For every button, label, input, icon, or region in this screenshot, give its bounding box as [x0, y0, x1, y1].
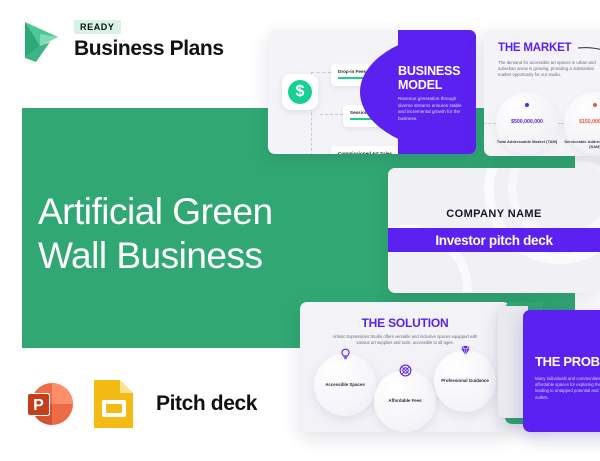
market-body: The demand for accessible art spaces in …: [498, 60, 600, 79]
solution-pillar[interactable]: Accessible Spaces: [314, 354, 376, 416]
hero-title: Artificial Green Wall Business: [38, 190, 348, 278]
problem-title: THE PROBLEM: [535, 354, 600, 369]
diamond-icon: [458, 343, 473, 358]
brand-header: READY Business Plans: [18, 16, 224, 64]
business-model-body: Revenue generation through diverse strea…: [398, 96, 470, 122]
market-stat-value: $150,000,000: [564, 119, 600, 125]
market-dash-left: [484, 123, 496, 124]
business-model-item-label: Commissioned Art Sales: [338, 151, 390, 154]
business-model-title: BUSINESS MODEL: [398, 64, 472, 92]
slide-card-market[interactable]: THE MARKET The demand for accessible art…: [484, 30, 600, 156]
stat-dot-icon: [525, 103, 529, 107]
company-name-text: COMPANY NAME: [388, 208, 600, 220]
slide-card-solution[interactable]: THE SOLUTION Artistic Expressions Studio…: [300, 302, 510, 432]
brand-name: Business Plans: [74, 37, 224, 61]
market-stat-label: Serviceable Addressable Market (SAM): [560, 139, 600, 150]
powerpoint-file-icon: P: [24, 378, 76, 430]
solution-pillar-label: Professional Guidance: [441, 378, 489, 384]
solution-pillar[interactable]: Professional Guidance: [434, 350, 496, 412]
stat-dot-icon: [593, 103, 597, 107]
dollar-badge: $: [282, 74, 318, 110]
solution-pillar-label: Affordable Fees: [388, 398, 421, 404]
connector-line-top: [311, 72, 331, 73]
slide-card-problem[interactable]: THE PROBLEM Many individuals and communi…: [523, 310, 600, 432]
market-title: THE MARKET: [498, 42, 571, 54]
slide-card-business-model[interactable]: $ Drop-in Fees Session Workshops Commiss…: [268, 30, 476, 154]
market-stat-circle: $150,000,000 Serviceable Addressable Mar…: [564, 92, 600, 154]
google-slides-file-icon: [90, 378, 138, 430]
solution-pillar[interactable]: Affordable Fees: [374, 370, 436, 432]
file-format-row: P Pitch deck: [24, 378, 257, 430]
market-stat-label: Total Addressable Market (TAM): [492, 139, 562, 144]
business-model-purple-block: [398, 30, 476, 154]
slide-card-company-title[interactable]: COMPANY NAME Investor pitch deck: [388, 168, 600, 293]
lightbulb-icon: [338, 347, 353, 362]
ready-badge: READY: [74, 20, 121, 34]
poster-canvas: READY Business Plans Artificial Green Wa…: [0, 0, 600, 461]
investor-pitch-deck-band: Investor pitch deck: [388, 228, 600, 252]
investor-pitch-deck-text: Investor pitch deck: [435, 233, 552, 248]
connector-line-middle: [320, 114, 343, 115]
market-stat-circle: $500,000,000 Total Addressable Market (T…: [496, 92, 558, 154]
problem-body: Many individuals and communities lack ac…: [535, 376, 600, 401]
business-model-item[interactable]: Commissioned Art Sales: [331, 146, 397, 154]
target-icon: [398, 363, 413, 378]
dollar-sign-icon: $: [288, 80, 312, 104]
svg-text:P: P: [33, 397, 44, 414]
pitch-deck-label: Pitch deck: [156, 392, 257, 416]
solution-title: THE SOLUTION: [300, 316, 510, 330]
solution-pillar-label: Accessible Spaces: [325, 382, 365, 388]
market-stat-value: $500,000,000: [496, 119, 558, 125]
play-triangle-logo-icon: [18, 16, 64, 64]
